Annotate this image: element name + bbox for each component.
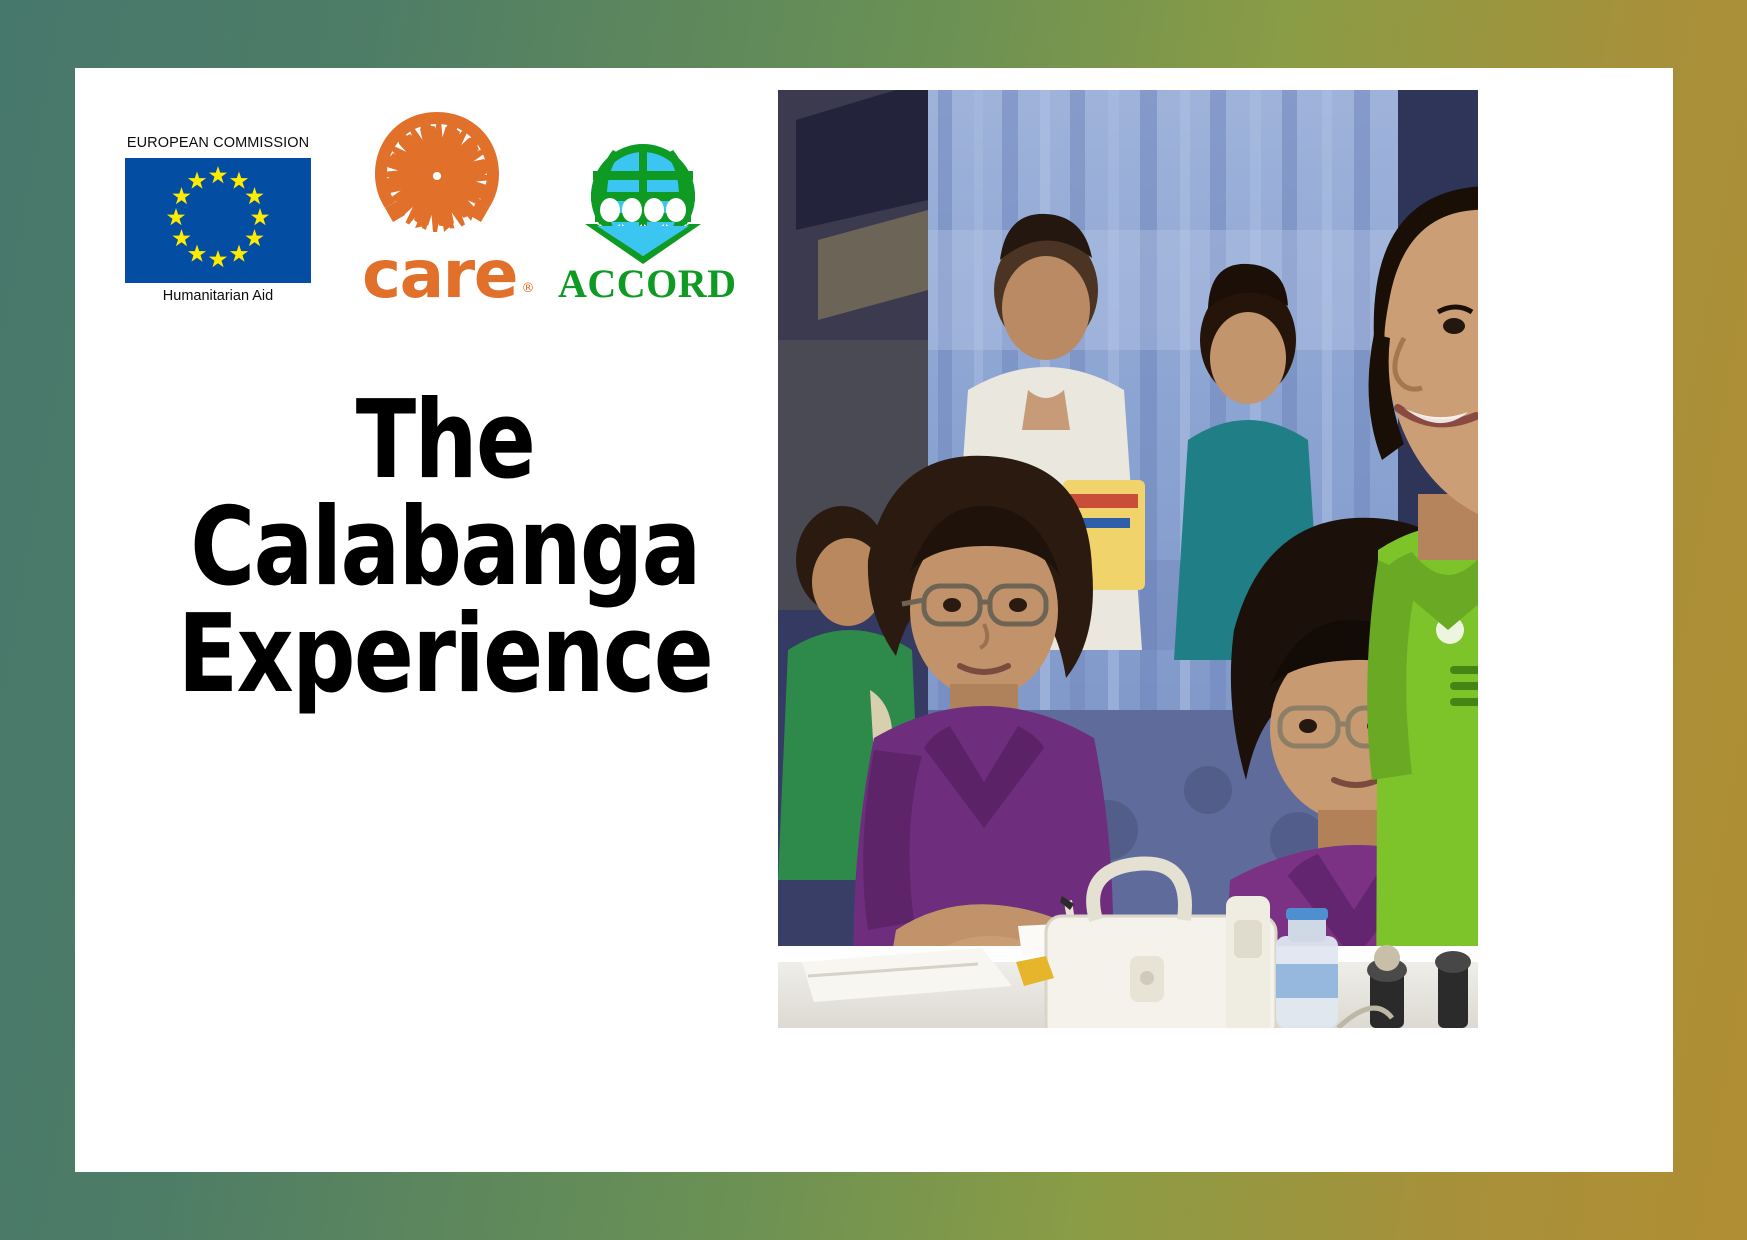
- care-hands-circle-icon: [369, 108, 505, 244]
- meeting-photo-illustration: [778, 90, 1478, 1028]
- logo-strip: EUROPEAN COMMISSION: [120, 108, 728, 304]
- eu-stars-icon: [125, 158, 311, 283]
- title-line-2: Calabanga: [174, 495, 715, 602]
- meeting-photo: [778, 90, 1478, 1028]
- care-text: care: [362, 236, 517, 313]
- eu-flag-icon: [125, 158, 311, 283]
- eu-commission-label: EUROPEAN COMMISSION: [120, 135, 316, 152]
- care-wordmark: care®: [362, 246, 517, 304]
- registered-trademark-icon: ®: [521, 283, 533, 294]
- logo-european-commission: EUROPEAN COMMISSION: [120, 135, 316, 304]
- logo-care: care®: [362, 108, 512, 304]
- title-line-1: The: [174, 388, 715, 495]
- accord-wordmark: ACCORD: [558, 264, 728, 304]
- photo-person-standing-green: [1367, 186, 1478, 1028]
- eu-humanitarian-aid-label: Humanitarian Aid: [120, 288, 316, 304]
- poster-card: EUROPEAN COMMISSION: [75, 68, 1673, 1172]
- page-title: The Calabanga Experience: [174, 388, 715, 709]
- logo-accord: ACCORD: [558, 138, 728, 304]
- title-line-3: Experience: [174, 602, 715, 709]
- accord-globe-people-icon: [569, 138, 717, 266]
